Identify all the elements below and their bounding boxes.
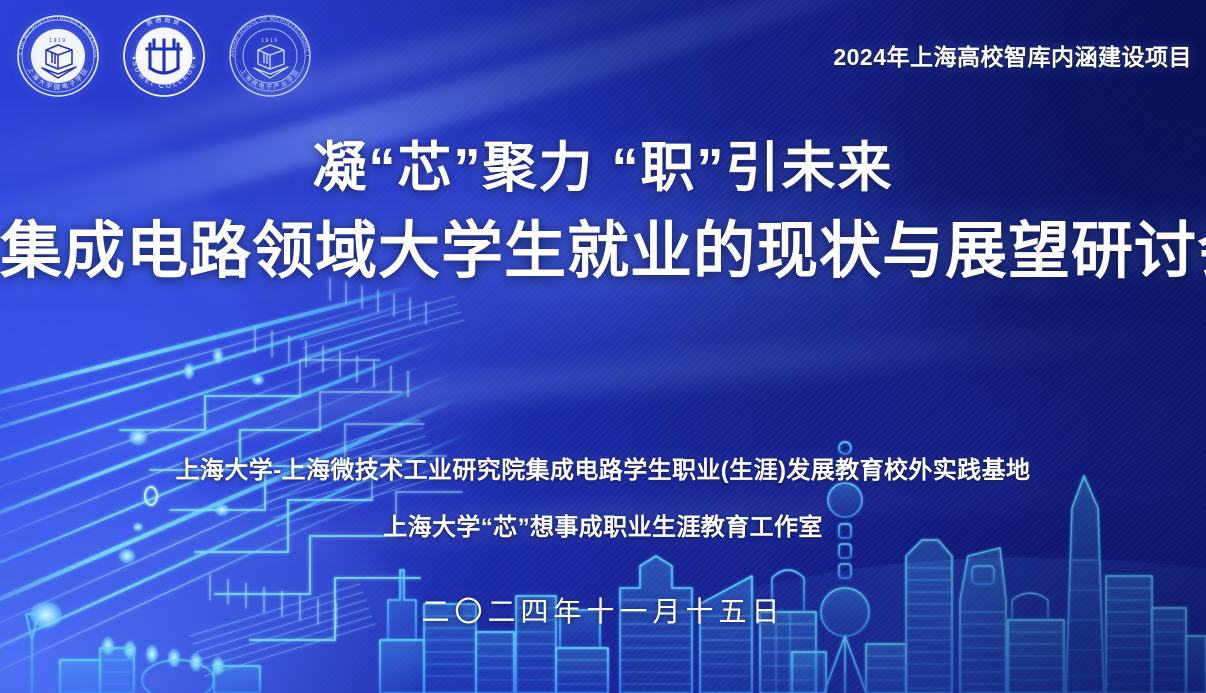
main-title-line-2: 集成电路领域大学生就业的现状与展望研讨会 [0,218,1206,286]
subtitle-line-2: 上海大学“芯”想事成职业生涯教育工作室 [0,507,1206,542]
svg-text:1919: 1919 [261,38,279,44]
logo-shanghai-school-of-microelectronic-industries: SHANGHAI SCHOOL OF MICROELECTRONIC IND 上… [220,6,320,106]
project-header-title: 2024年上海高校智库内涵建设项目 [833,38,1192,72]
logo-suwei-college: 崇德尚贤 SUWEI COLLEGE [114,6,214,106]
subtitle-line-1: 上海大学-上海微技术工业研究院集成电路学生职业(生涯)发展教育校外实践基地 [0,450,1206,485]
svg-text:1919: 1919 [49,38,67,44]
event-date: 二〇二四年十一月十五日 [0,590,1206,630]
subtitle-block: 上海大学-上海微技术工业研究院集成电路学生职业(生涯)发展教育校外实践基地 上海… [0,450,1206,630]
conference-banner: SCHOOL OF MICROELECTRONICS SHANGHAI UNIV… [0,0,1206,693]
logo-row: SCHOOL OF MICROELECTRONICS SHANGHAI UNIV… [8,6,320,106]
logo-shanghai-university-school-of-microelectronics: SCHOOL OF MICROELECTRONICS SHANGHAI UNIV… [8,6,108,106]
main-title-line-1: 凝“芯”聚力 “职”引未来 [0,138,1206,198]
main-title-block: 凝“芯”聚力 “职”引未来 集成电路领域大学生就业的现状与展望研讨会 [0,138,1206,287]
